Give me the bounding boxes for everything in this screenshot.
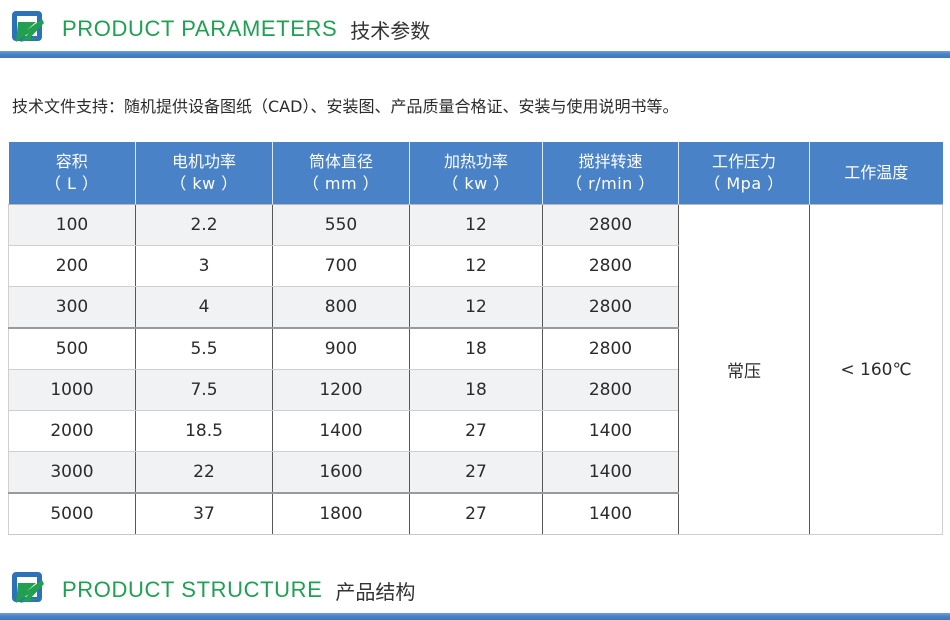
- cell-barrel-diameter: 700: [273, 246, 410, 287]
- table-row: 100 2.2 550 12 2800 常压 < 160℃: [9, 205, 943, 246]
- cell-barrel-diameter: 800: [273, 287, 410, 329]
- col-header-heating-power: 加热功率 （ kw ）: [410, 142, 543, 205]
- col-header-stir-speed: 搅拌转速 （ r/min ）: [543, 142, 679, 205]
- col-header-volume-unit: （ L ）: [11, 173, 134, 195]
- col-header-working-temperature: 工作温度: [810, 142, 943, 205]
- cell-volume: 200: [9, 246, 136, 287]
- cell-heating-power: 18: [410, 370, 543, 411]
- section-title-cn: 技术参数: [350, 15, 430, 44]
- cell-motor-power: 5.5: [136, 328, 273, 370]
- cell-volume: 1000: [9, 370, 136, 411]
- cell-motor-power: 2.2: [136, 205, 273, 246]
- cell-stir-speed: 2800: [543, 246, 679, 287]
- section-header-parameters: PRODUCT PARAMETERS 技术参数: [0, 0, 950, 58]
- cell-motor-power: 37: [136, 493, 273, 535]
- table-header-row: 容积 （ L ） 电机功率 （ kw ） 筒体直径 （ mm ） 加热功率 （ …: [9, 142, 943, 205]
- section-divider-bar: [0, 51, 950, 58]
- col-header-volume: 容积 （ L ）: [9, 142, 136, 205]
- col-header-stir-speed-unit: （ r/min ）: [545, 173, 676, 195]
- cell-volume: 5000: [9, 493, 136, 535]
- col-header-motor-power-name: 电机功率: [172, 152, 236, 171]
- cell-heating-power: 27: [410, 411, 543, 452]
- col-header-stir-speed-name: 搅拌转速: [578, 152, 642, 171]
- col-header-barrel-diameter-name: 筒体直径: [309, 152, 373, 171]
- col-header-motor-power-unit: （ kw ）: [138, 173, 270, 195]
- parameters-table-wrap: 容积 （ L ） 电机功率 （ kw ） 筒体直径 （ mm ） 加热功率 （ …: [0, 142, 950, 535]
- cell-motor-power: 7.5: [136, 370, 273, 411]
- cell-barrel-diameter: 550: [273, 205, 410, 246]
- cell-barrel-diameter: 900: [273, 328, 410, 370]
- cell-working-temperature-merged: < 160℃: [810, 205, 943, 535]
- cell-barrel-diameter: 1400: [273, 411, 410, 452]
- cell-volume: 500: [9, 328, 136, 370]
- cell-barrel-diameter: 1600: [273, 452, 410, 494]
- cell-stir-speed: 1400: [543, 411, 679, 452]
- cell-stir-speed: 2800: [543, 370, 679, 411]
- cell-heating-power: 18: [410, 328, 543, 370]
- cell-volume: 3000: [9, 452, 136, 494]
- cell-heating-power: 27: [410, 493, 543, 535]
- col-header-barrel-diameter-unit: （ mm ）: [275, 173, 407, 195]
- cell-heating-power: 12: [410, 205, 543, 246]
- section-header-structure: PRODUCT STRUCTURE 产品结构: [0, 560, 950, 620]
- cell-motor-power: 18.5: [136, 411, 273, 452]
- cell-motor-power: 4: [136, 287, 273, 329]
- col-header-barrel-diameter: 筒体直径 （ mm ）: [273, 142, 410, 205]
- section-divider-bar: [0, 613, 950, 620]
- cell-volume: 100: [9, 205, 136, 246]
- cell-motor-power: 22: [136, 452, 273, 494]
- cell-barrel-diameter: 1200: [273, 370, 410, 411]
- cell-volume: 2000: [9, 411, 136, 452]
- cell-stir-speed: 2800: [543, 287, 679, 329]
- cell-heating-power: 12: [410, 246, 543, 287]
- col-header-heating-power-unit: （ kw ）: [412, 173, 540, 195]
- cell-working-pressure-merged: 常压: [679, 205, 810, 535]
- section-title-en: PRODUCT PARAMETERS: [62, 16, 337, 42]
- cell-barrel-diameter: 1800: [273, 493, 410, 535]
- cell-heating-power: 27: [410, 452, 543, 494]
- company-logo-icon: [10, 571, 48, 609]
- cell-stir-speed: 2800: [543, 328, 679, 370]
- section-title-en: PRODUCT STRUCTURE: [62, 577, 322, 603]
- cell-heating-power: 12: [410, 287, 543, 329]
- cell-motor-power: 3: [136, 246, 273, 287]
- col-header-volume-name: 容积: [56, 152, 88, 171]
- cell-stir-speed: 1400: [543, 452, 679, 494]
- cell-stir-speed: 1400: [543, 493, 679, 535]
- col-header-motor-power: 电机功率 （ kw ）: [136, 142, 273, 205]
- col-header-working-pressure: 工作压力 （ Mpa ）: [679, 142, 810, 205]
- logo-bolt-icon: [14, 577, 48, 607]
- section-title-cn: 产品结构: [335, 576, 415, 605]
- technical-documents-note: 技术文件支持：随机提供设备图纸（CAD）、安装图、产品质量合格证、安装与使用说明…: [0, 99, 950, 115]
- col-header-working-pressure-unit: （ Mpa ）: [681, 173, 807, 195]
- logo-bolt-icon: [14, 16, 48, 46]
- col-header-heating-power-name: 加热功率: [444, 152, 508, 171]
- parameters-table: 容积 （ L ） 电机功率 （ kw ） 筒体直径 （ mm ） 加热功率 （ …: [8, 142, 943, 535]
- cell-stir-speed: 2800: [543, 205, 679, 246]
- company-logo-icon: [10, 10, 48, 48]
- col-header-working-temperature-name: 工作温度: [844, 163, 908, 182]
- col-header-working-pressure-name: 工作压力: [712, 152, 776, 171]
- cell-volume: 300: [9, 287, 136, 329]
